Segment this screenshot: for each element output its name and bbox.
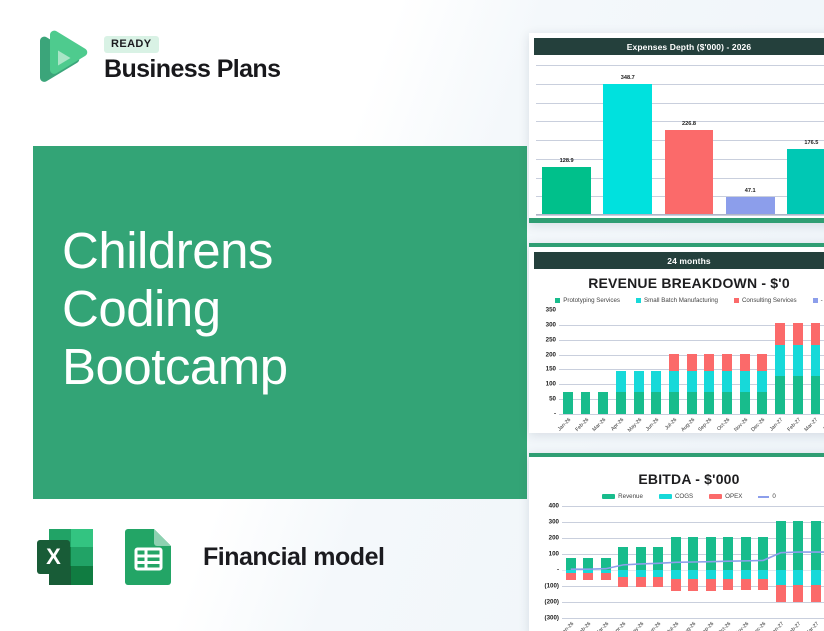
chart-title-ebitda: EBITDA - $'000: [529, 471, 824, 487]
chart-x-label: Jan-27: [769, 417, 784, 432]
chart-banner-expenses: Expenses Depth ($'000) - 2026: [534, 38, 824, 55]
chart-bar-segment: [704, 354, 714, 371]
chart-bar-segment: [704, 392, 714, 414]
chart-bar-label: 47.1: [745, 188, 756, 194]
chart-gridline: [536, 84, 824, 85]
chart-bar-segment: [687, 354, 697, 371]
chart-banner-revenue: 24 months: [534, 252, 824, 269]
chart-gridline: [536, 65, 824, 66]
legend-label: OPEX: [725, 493, 742, 500]
chart-x-label: May-26: [629, 621, 645, 631]
chart-plot-expenses: 128.9348.7226.847.1176.5: [536, 65, 824, 215]
legend-item: Consulting Services: [734, 297, 797, 304]
chart-bar-segment: [687, 392, 697, 414]
chart-bar-segment: [811, 345, 821, 376]
chart-bar-segment: [740, 371, 750, 392]
chart-x-label: Nov-26: [734, 621, 750, 631]
legend-item: Revenue: [602, 493, 643, 500]
chart-bar-segment: [722, 371, 732, 392]
chart-bar-segment: [669, 371, 679, 392]
footer-row: X Financial model: [33, 524, 384, 590]
chart-x-label: Oct-26: [716, 417, 731, 432]
chart-x-label: Feb-27: [787, 621, 803, 631]
legend-label: 0: [772, 493, 775, 500]
chart-bar-segment: [722, 354, 732, 371]
chart-bar-segment: [757, 371, 767, 392]
chart-bar-segment: [616, 392, 626, 414]
page-title: Childrens Coding Bootcamp: [62, 222, 288, 396]
chart-y-tick: 100: [546, 381, 556, 388]
chart-x-label: Mar-27: [804, 417, 820, 433]
chart-gridline: [536, 103, 824, 104]
chart-y-tick: 50: [549, 396, 556, 403]
chart-y-tick: (100): [545, 583, 559, 590]
legend-item: OPEX: [709, 493, 742, 500]
chart-bar-segment: [581, 392, 591, 414]
chart-bar-segment: [740, 354, 750, 371]
chart-bar-segment: [669, 354, 679, 371]
chart-x-label: Dec-26: [751, 417, 767, 433]
chart-x-label: May-26: [626, 417, 642, 433]
chart-bar-segment: [793, 345, 803, 376]
chart-x-label: Feb-26: [577, 621, 593, 631]
chart-y-tick: (300): [545, 615, 559, 622]
chart-bar: [603, 84, 652, 215]
chart-bar-segment: [651, 371, 661, 392]
brand-header: READY Business Plans: [28, 28, 280, 90]
legend-item: COGS: [659, 493, 693, 500]
chart-bar-segment: [634, 392, 644, 414]
chart-y-tick: 300: [546, 321, 556, 328]
legend-item: Prototyping Services: [555, 297, 620, 304]
chart-card-revenue[interactable]: 24 months REVENUE BREAKDOWN - $'0 Protot…: [529, 243, 824, 433]
chart-legend-revenue: Prototyping ServicesSmall Batch Manufact…: [529, 297, 824, 304]
chart-bar-label: 348.7: [621, 75, 635, 81]
legend-color-swatch: [709, 494, 722, 499]
chart-x-label: Aug-26: [680, 417, 696, 433]
chart-bar-segment: [651, 392, 661, 414]
chart-bar-segment: [563, 392, 573, 414]
chart-x-label: Nov-26: [733, 417, 749, 433]
chart-plot-ebitda: 400300200100-(100)(200)(300)Jan-26Feb-26…: [562, 506, 824, 618]
play-triangle-logo-icon: [28, 28, 90, 90]
hero-panel: Childrens Coding Bootcamp: [33, 146, 527, 499]
chart-x-label: Jul-26: [664, 417, 678, 431]
legend-color-swatch: [636, 298, 641, 303]
chart-bar-segment: [775, 323, 785, 344]
legend-item: -: [813, 297, 823, 304]
chart-y-tick: 350: [546, 307, 556, 314]
chart-x-label: Mar-26: [592, 417, 608, 433]
chart-y-tick: 150: [546, 366, 556, 373]
chart-y-tick: 100: [549, 551, 559, 558]
chart-legend-ebitda: RevenueCOGSOPEX0: [529, 493, 824, 500]
chart-gridline: [536, 121, 824, 122]
chart-plot-revenue: 35030025020015010050-Jan-26Feb-26Mar-26A…: [559, 310, 824, 414]
slide-canvas: READY Business Plans Childrens Coding Bo…: [0, 0, 824, 631]
chart-x-label: Oct-26: [717, 621, 732, 631]
chart-x-label: Aug-26: [681, 621, 697, 631]
chart-bar-segment: [793, 376, 803, 414]
excel-icon: X: [33, 524, 99, 590]
chart-y-tick: -: [557, 567, 559, 574]
legend-color-swatch: [734, 298, 739, 303]
chart-bar-segment: [757, 354, 767, 371]
chart-axis-line: [536, 214, 824, 215]
chart-bar-segment: [598, 392, 608, 414]
legend-label: -: [821, 297, 823, 304]
legend-color-swatch: [813, 298, 818, 303]
chart-bar: [542, 167, 591, 215]
legend-label: COGS: [675, 493, 693, 500]
chart-x-label: Mar-26: [594, 621, 610, 631]
chart-bar-segment: [811, 323, 821, 344]
chart-gridline: [559, 414, 824, 415]
chart-bar-segment: [811, 376, 821, 414]
chart-bar-segment: [669, 392, 679, 414]
legend-line-swatch: [758, 496, 769, 498]
legend-label: Revenue: [618, 493, 643, 500]
chart-x-label: Jul-26: [666, 621, 680, 631]
footer-label: Financial model: [203, 543, 384, 572]
chart-bar-segment: [634, 371, 644, 392]
chart-x-label: Jan-26: [557, 417, 572, 432]
chart-card-ebitda[interactable]: EBITDA - $'000 RevenueCOGSOPEX0 40030020…: [529, 453, 824, 631]
chart-y-tick: 400: [549, 503, 559, 510]
legend-label: Consulting Services: [742, 297, 797, 304]
chart-y-tick: (200): [545, 599, 559, 606]
legend-color-swatch: [659, 494, 672, 499]
legend-color-swatch: [555, 298, 560, 303]
chart-y-tick: 200: [549, 535, 559, 542]
ready-badge: READY: [104, 36, 159, 53]
chart-bar-segment: [740, 392, 750, 414]
legend-label: Prototyping Services: [563, 297, 620, 304]
legend-color-swatch: [602, 494, 615, 499]
chart-gridline: [562, 618, 824, 619]
chart-x-label: Jun-26: [647, 621, 662, 631]
chart-y-tick: 300: [549, 519, 559, 526]
chart-bar-segment: [757, 392, 767, 414]
google-sheets-icon: [115, 524, 181, 590]
legend-item: Small Batch Manufacturing: [636, 297, 718, 304]
chart-y-tick: -: [554, 411, 556, 418]
chart-x-label: Feb-27: [786, 417, 802, 433]
chart-x-label: Apr-26: [612, 621, 627, 631]
chart-x-label: Jun-26: [645, 417, 660, 432]
chart-card-expenses[interactable]: Expenses Depth ($'000) - 2026 128.9348.7…: [529, 33, 824, 223]
chart-bar-label: 226.8: [682, 121, 696, 127]
chart-bar-segment: [775, 376, 785, 414]
chart-line-series: [562, 506, 824, 618]
chart-gridline: [536, 215, 824, 216]
chart-y-tick: 200: [546, 351, 556, 358]
chart-bar-segment: [775, 345, 785, 376]
chart-bar-segment: [687, 371, 697, 392]
chart-bar-segment: [793, 323, 803, 344]
chart-bar: [787, 149, 824, 215]
brand-name: Business Plans: [104, 56, 280, 82]
chart-x-label: Sep-26: [698, 417, 714, 433]
chart-x-label: Sep-26: [699, 621, 715, 631]
chart-x-label: Dec-26: [751, 621, 767, 631]
chart-x-label: Feb-26: [574, 417, 590, 433]
legend-label: Small Batch Manufacturing: [644, 297, 718, 304]
chart-bar-segment: [704, 371, 714, 392]
brand-text-block: READY Business Plans: [104, 36, 280, 82]
chart-bar-segment: [722, 392, 732, 414]
chart-x-label: Mar-27: [804, 621, 820, 631]
chart-x-label: Apr-26: [610, 417, 625, 432]
chart-y-tick: 250: [546, 336, 556, 343]
chart-bar-segment: [616, 371, 626, 392]
chart-title-revenue: REVENUE BREAKDOWN - $'0: [529, 275, 824, 291]
chart-x-label: Jan-27: [770, 621, 785, 631]
chart-bar-label: 128.9: [560, 158, 574, 164]
legend-item: 0: [758, 493, 775, 500]
chart-x-label: Jan-26: [560, 621, 575, 631]
chart-bar-label: 176.5: [804, 140, 818, 146]
chart-bar: [726, 197, 775, 215]
chart-bar: [665, 130, 714, 215]
svg-text:X: X: [46, 544, 61, 569]
